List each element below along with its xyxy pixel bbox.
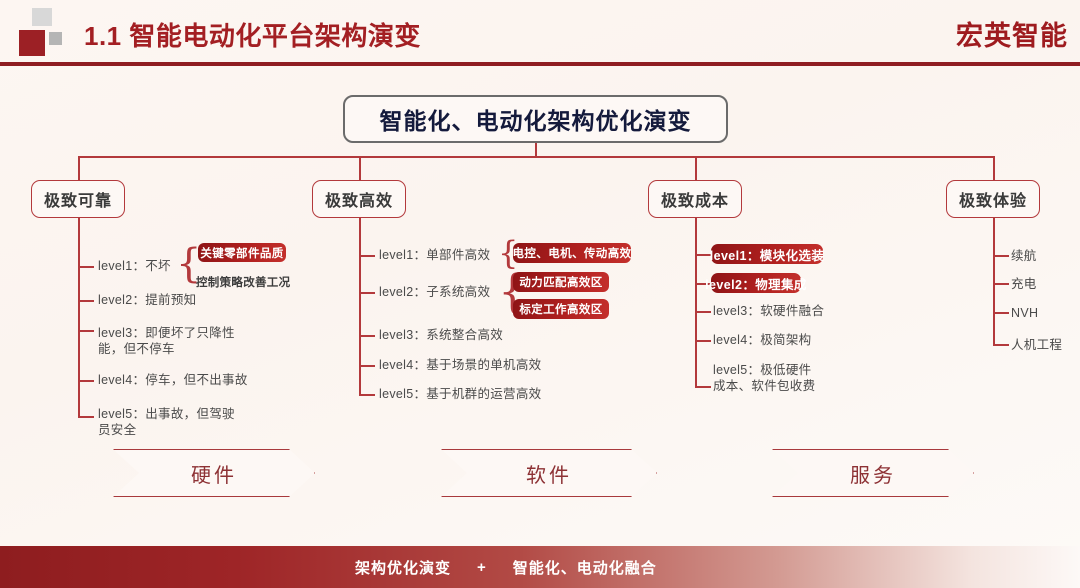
category-box-cost[interactable]: 极致成本 bbox=[648, 180, 742, 218]
level-item-c4: level4：极简架构 bbox=[713, 332, 811, 348]
level-item-x1: 续航 bbox=[1011, 248, 1037, 264]
branch-tick-x4 bbox=[993, 344, 1009, 346]
branch-tick-e5 bbox=[359, 394, 375, 396]
level-item-x3: NVH bbox=[1011, 305, 1038, 321]
trunk-efficiency bbox=[359, 218, 361, 396]
level-item-e3: level3：系统整合高效 bbox=[379, 327, 503, 343]
chevron-label-service: 服务 bbox=[850, 459, 896, 488]
level-item-e1: level1：单部件高效 bbox=[379, 247, 490, 263]
branch-tick-r2 bbox=[78, 300, 94, 302]
branch-tick-x3 bbox=[993, 312, 1009, 314]
footer-left-label: 架构优化演变 bbox=[355, 557, 451, 578]
level-item-c1[interactable]: level1：模块化选装 bbox=[711, 244, 823, 264]
logo-square-small-icon bbox=[49, 32, 62, 45]
logo-mark bbox=[14, 8, 74, 58]
badge-key-component-quality[interactable]: 关键零部件品质 bbox=[198, 243, 286, 262]
logo-square-gray-icon bbox=[32, 8, 52, 26]
category-box-experience[interactable]: 极致体验 bbox=[946, 180, 1040, 218]
branch-tick-e2 bbox=[359, 292, 375, 294]
chevron-hardware[interactable]: 硬件 bbox=[113, 449, 315, 497]
branch-tick-x2 bbox=[993, 283, 1009, 285]
connector-drop-efficiency bbox=[359, 156, 361, 180]
root-title-label: 智能化、电动化架构优化演变 bbox=[380, 102, 692, 136]
connector-drop-reliability bbox=[78, 156, 80, 180]
chevron-software[interactable]: 软件 bbox=[441, 449, 657, 497]
branch-tick-c1 bbox=[695, 254, 711, 256]
connector-root-vertical bbox=[535, 143, 537, 157]
brand-logo-text: 宏英智能 bbox=[956, 14, 1068, 53]
branch-tick-c4 bbox=[695, 340, 711, 342]
header-rule bbox=[0, 62, 1080, 66]
level-item-e4: level4：基于场景的单机高效 bbox=[379, 357, 541, 373]
footer-plus-symbol: + bbox=[477, 559, 487, 576]
level-item-c5: level5：极低硬件 成本、软件包收费 bbox=[713, 362, 815, 394]
footer-right-label: 智能化、电动化融合 bbox=[513, 557, 657, 578]
branch-tick-x1 bbox=[993, 255, 1009, 257]
branch-tick-e4 bbox=[359, 365, 375, 367]
level-item-e5: level5：基于机群的运营高效 bbox=[379, 386, 541, 402]
branch-tick-c3 bbox=[695, 311, 711, 313]
branch-tick-e3 bbox=[359, 335, 375, 337]
category-label-reliability: 极致可靠 bbox=[44, 187, 112, 211]
trunk-experience bbox=[993, 218, 995, 346]
branch-tick-e1 bbox=[359, 255, 375, 257]
branch-tick-c5 bbox=[695, 386, 711, 388]
category-label-efficiency: 极致高效 bbox=[325, 187, 393, 211]
trunk-reliability bbox=[78, 218, 80, 418]
badge-calibration-zone[interactable]: 标定工作高效区 bbox=[513, 299, 609, 319]
connector-drop-cost bbox=[695, 156, 697, 180]
category-box-efficiency[interactable]: 极致高效 bbox=[312, 180, 406, 218]
level-item-r3: level3：即便坏了只降性 能，但不停车 bbox=[98, 325, 235, 357]
page-title: 1.1 智能电动化平台架构演变 bbox=[84, 16, 421, 53]
level-item-c3: level3：软硬件融合 bbox=[713, 303, 824, 319]
level-item-c2[interactable]: level2：物理集成 bbox=[711, 273, 801, 293]
level-item-x4: 人机工程 bbox=[1011, 337, 1062, 353]
level-item-r1: level1：不坏 bbox=[98, 258, 171, 274]
badge-power-match-zone[interactable]: 动力匹配高效区 bbox=[513, 272, 609, 292]
category-box-reliability[interactable]: 极致可靠 bbox=[31, 180, 125, 218]
slide-header: 1.1 智能电动化平台架构演变 宏英智能 bbox=[0, 0, 1080, 64]
logo-square-red-icon bbox=[19, 30, 45, 56]
slide-footer: 架构优化演变 + 智能化、电动化融合 bbox=[0, 546, 1080, 588]
connector-drop-experience bbox=[993, 156, 995, 180]
branch-tick-r4 bbox=[78, 380, 94, 382]
level-item-x2: 充电 bbox=[1011, 276, 1037, 292]
branch-tick-r5 bbox=[78, 416, 94, 418]
chevron-service[interactable]: 服务 bbox=[772, 449, 974, 497]
branch-tick-r1 bbox=[78, 266, 94, 268]
trunk-cost bbox=[695, 218, 697, 388]
badge-motor-drive-efficiency[interactable]: 电控、电机、传动高效 bbox=[513, 243, 631, 263]
level-item-r5: level5：出事故，但驾驶 员安全 bbox=[98, 406, 235, 438]
slide-canvas: 1.1 智能电动化平台架构演变 宏英智能 智能化、电动化架构优化演变 极致可靠 … bbox=[0, 0, 1080, 588]
level-item-r4: level4：停车，但不出事故 bbox=[98, 372, 248, 388]
category-label-experience: 极致体验 bbox=[959, 187, 1027, 211]
chevron-label-software: 软件 bbox=[526, 459, 572, 488]
level-item-e2: level2：子系统高效 bbox=[379, 284, 490, 300]
connector-horizontal-bus bbox=[78, 156, 995, 158]
category-label-cost: 极致成本 bbox=[661, 187, 729, 211]
chevron-label-hardware: 硬件 bbox=[191, 459, 237, 488]
footer-content: 架构优化演变 + 智能化、电动化融合 bbox=[355, 546, 657, 588]
annotation-control-strategy: 控制策略改善工况 bbox=[196, 274, 290, 290]
root-title-box: 智能化、电动化架构优化演变 bbox=[343, 95, 728, 143]
branch-tick-r3 bbox=[78, 330, 94, 332]
level-item-r2: level2：提前预知 bbox=[98, 292, 196, 308]
